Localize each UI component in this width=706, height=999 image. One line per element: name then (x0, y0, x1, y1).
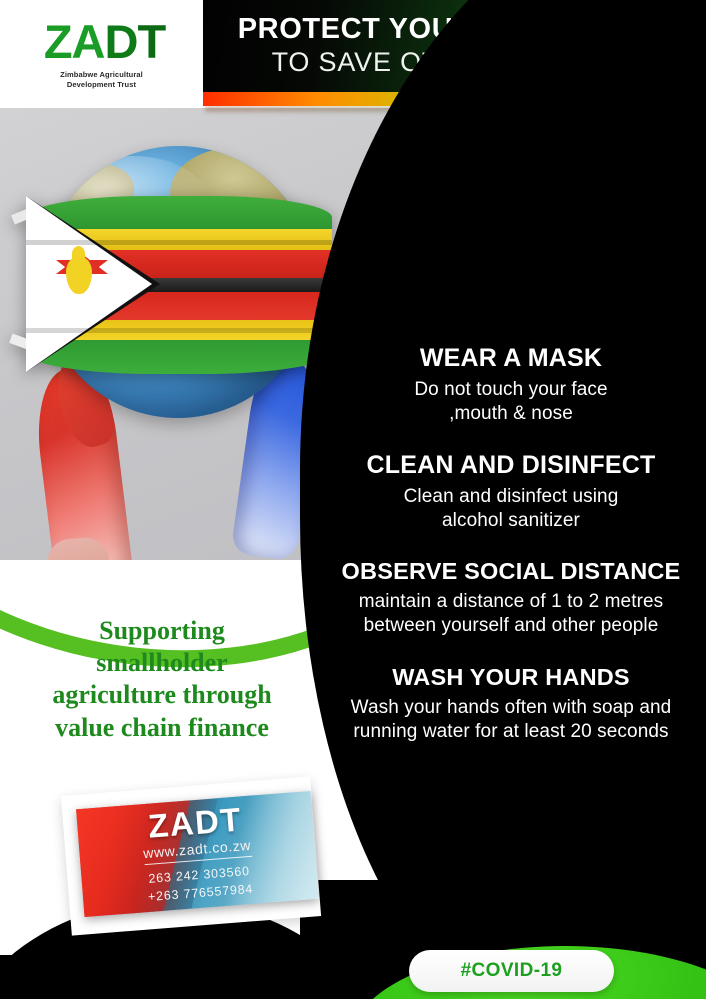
bottom-left-black-strip (0, 955, 420, 999)
tip-title: CLEAN AND DISINFECT (316, 452, 706, 480)
tip-body-line1: Clean and disinfect using (316, 485, 706, 509)
zadt-slogan: Supporting smallholder agriculture throu… (12, 615, 312, 744)
tip-clean-and-disinfect: CLEAN AND DISINFECT Clean and disinfect … (316, 452, 706, 533)
logo-subtitle-line2: Development Trust (60, 80, 143, 90)
covid19-badge-label: #COVID-19 (461, 960, 563, 982)
tip-body-line1: maintain a distance of 1 to 2 metres (316, 590, 706, 614)
business-card-content: ZADT www.zadt.co.zw 263 242 303560 +263 … (77, 797, 319, 911)
tip-title: OBSERVE SOCIAL DISTANCE (316, 559, 706, 585)
card-website[interactable]: www.zadt.co.zw (143, 837, 252, 865)
tip-body-line2: running water for at least 20 seconds (316, 720, 706, 744)
zadt-business-card: ZADT www.zadt.co.zw 263 242 303560 +263 … (76, 791, 319, 917)
tip-body-line1: Do not touch your face (316, 378, 706, 402)
logo-subtitle-line1: Zimbabwe Agricultural (60, 70, 143, 80)
zadt-logo: ZADT Zimbabwe Agricultural Development T… (0, 0, 203, 108)
logo-part-za: ZA (44, 15, 105, 68)
logo-part-d: D (104, 15, 137, 68)
tip-body-line2: alcohol sanitizer (316, 509, 706, 533)
tip-body-line2: between yourself and other people (316, 614, 706, 638)
logo-part-t: T (137, 15, 165, 68)
tip-observe-social-distance: OBSERVE SOCIAL DISTANCE maintain a dista… (316, 559, 706, 638)
covid19-badge: #COVID-19 (409, 950, 614, 992)
tip-title: WEAR A MASK (316, 345, 706, 373)
slogan-line4: value chain finance (12, 712, 312, 744)
slogan-line2: smallholder (12, 647, 312, 679)
prevention-tips-list: WEAR A MASK Do not touch your face ,mout… (316, 345, 706, 845)
zadt-logo-wordmark: ZADT (44, 18, 165, 65)
tip-wear-a-mask: WEAR A MASK Do not touch your face ,mout… (316, 345, 706, 426)
zadt-logo-subtitle: Zimbabwe Agricultural Development Trust (60, 70, 143, 90)
tip-title: WASH YOUR HANDS (316, 665, 706, 691)
tip-body-line2: ,mouth & nose (316, 402, 706, 426)
poster-canvas: PROTECT YOURSELF TO SAVE OTHERS ZADT Zim… (0, 0, 706, 999)
slogan-line3: agriculture through (12, 679, 312, 711)
tip-wash-your-hands: WASH YOUR HANDS Wash your hands often wi… (316, 665, 706, 744)
tip-body-line1: Wash your hands often with soap and (316, 696, 706, 720)
slogan-line1: Supporting (12, 615, 312, 647)
